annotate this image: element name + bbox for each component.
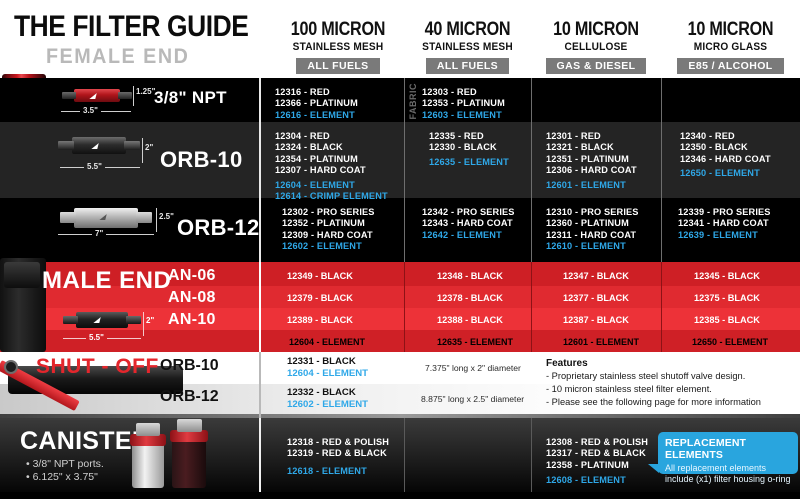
male-cell-1-3: 12375 - BLACK [694,293,760,303]
orb12-dia-dim-line [156,208,157,232]
column-0-media: STAINLESS MESH [277,40,398,54]
female-cell-2-1: 12342 - PRO SERIES 12343 - HARD COAT 126… [422,202,515,262]
product-image-npt: ◢ [60,84,135,108]
male-element-3: 12650 - ELEMENT [692,337,768,347]
canister-bullet-0: • 3/8" NPT ports. [26,458,104,470]
part-line: 12304 - RED [275,131,388,142]
shutoff-dims-1: 8.875" long x 2.5" diameter [421,394,524,404]
male-fitting-hex [4,262,40,288]
male-cell-1-1: 12378 - BLACK [437,293,503,303]
part-line: 12310 - PRO SERIES [546,207,639,218]
shutoff-part-1: 12332 - BLACK [287,387,356,398]
male-element-2: 12601 - ELEMENT [563,337,639,347]
divider-col-1-2-male [531,262,532,352]
canister-image-black [172,436,206,488]
row-label-npt: 3/8" NPT [154,88,227,108]
row-label-an08: AN-08 [168,289,216,307]
orb10-length-dim-label: 5.5" [84,162,105,171]
part-line: 12303 - RED [422,87,505,98]
part-line: 12358 - PLATINUM [546,460,648,471]
column-header-0: 100 MICRON STAINLESS MESH ALL FUELS [272,20,404,74]
part-line: 12311 - HARD COAT [546,230,639,241]
canister-bottom-rule [0,492,800,499]
divider-col-0-1-male [404,262,405,352]
female-cell-2-0: 12302 - PRO SERIES 12352 - PLATINUM 1230… [282,202,375,262]
element-line: 12602 - ELEMENT [282,241,375,252]
part-line: 12341 - HARD COAT [678,218,771,229]
male-cell-0-0: 12349 - BLACK [287,271,353,281]
male-end-band: MALE END ◢ 5.5" 2" AN-06 AN-08 AN-10 123… [0,262,800,352]
part-line: 12319 - RED & BLACK [287,448,389,459]
section-label-shut-off: SHUT - OFF [36,355,159,379]
element-line: 12618 - ELEMENT [287,466,389,477]
part-line: 12340 - RED [680,131,771,142]
section-label-male-end: MALE END [42,267,171,295]
product-image-an: ◢ [62,308,152,336]
aeromotive-logo-icon: ◢ [100,213,105,221]
male-cell-2-2: 12387 - BLACK [563,315,629,325]
part-line: 12317 - RED & BLACK [546,448,648,459]
shutoff-element-0: 12604 - ELEMENT [287,368,368,379]
part-line: 12318 - RED & POLISH [287,437,389,448]
column-header-3: 10 MICRON MICRO GLASS E85 / ALCOHOL [661,20,800,74]
aeromotive-logo-icon: ◢ [92,142,97,150]
orb10-dia-dim-line [142,138,143,163]
product-image-orb12: ◢ [58,204,168,238]
part-line: 12352 - PLATINUM [282,218,375,229]
part-line: 12307 - HARD COAT [275,165,388,176]
column-0-fuel-badge: ALL FUELS [296,58,379,74]
shutoff-element-1: 12602 - ELEMENT [287,399,368,410]
part-line: 12321 - BLACK [546,142,637,153]
callout-title: REPLACEMENT ELEMENTS [665,437,791,461]
male-cell-1-0: 12379 - BLACK [287,293,353,303]
npt-dia-dim-line [133,86,134,106]
section-title-female-end: FEMALE END [46,45,189,69]
element-line: 12601 - ELEMENT [546,180,637,191]
column-1-fuel-badge: ALL FUELS [426,58,509,74]
male-cell-2-3: 12385 - BLACK [694,315,760,325]
shutoff-valve-pivot [4,360,18,374]
npt-length-dim-label: 3.5" [80,106,101,115]
orb12-length-dim-label: 7" [92,229,106,238]
part-line: 12346 - HARD COAT [680,154,771,165]
replacement-elements-callout: REPLACEMENT ELEMENTS All replacement ele… [658,432,798,474]
divider-col-2-3 [661,78,662,262]
female-end-band: FABRIC ◢ 3.5" 1.25" 3/8" NPT 12316 - RED… [0,78,800,262]
part-line: 12366 - PLATINUM [275,98,358,109]
part-line: 12360 - PLATINUM [546,218,639,229]
part-line: 12302 - PRO SERIES [282,207,375,218]
shut-off-band: SHUT - OFF ORB-10 ORB-12 12331 - BLACK 1… [0,352,800,418]
features-item-2: - Please see the following page for more… [546,397,761,407]
divider-left-main-male [259,262,261,352]
column-3-fuel-badge: E85 / ALCOHOL [677,58,783,74]
divider-col-0-1 [404,78,405,262]
an-dia-dim-label: 2" [146,316,154,325]
column-2-media: CELLULOSE [536,40,656,54]
shutoff-dims-0: 7.375" long x 2" diameter [425,363,521,373]
part-line: 12306 - HARD COAT [546,165,637,176]
an-dia-dim-line [143,312,144,336]
element-line: 12650 - ELEMENT [680,168,771,179]
part-line: 12339 - PRO SERIES [678,207,771,218]
part-line: 12308 - RED & POLISH [546,437,648,448]
divider-col-1-2-canister [531,418,532,492]
part-line: 12342 - PRO SERIES [422,207,515,218]
part-line: 12353 - PLATINUM [422,98,505,109]
part-line: 12316 - RED [275,87,358,98]
canister-black-bracket [177,419,202,432]
divider-col-1-2 [531,78,532,262]
row-label-an06: AN-06 [168,267,216,285]
part-line: 12335 - RED [429,131,509,142]
column-header-2: 10 MICRON CELLULOSE GAS & DIESEL [531,20,661,74]
filter-guide-page: THE FILTER GUIDE FEMALE END 100 MICRON S… [0,0,800,499]
part-line: 12354 - PLATINUM [275,154,388,165]
divider-left-main-shutoff [259,352,261,418]
divider-col-0-1-canister [404,418,405,492]
part-line: 12330 - BLACK [429,142,509,153]
row-label-shutoff-orb10: ORB-10 [160,357,219,375]
canister-image-polish [132,440,164,488]
column-1-media: STAINLESS MESH [409,40,526,54]
element-line: 12616 - ELEMENT [275,110,358,121]
male-cell-2-1: 12388 - BLACK [437,315,503,325]
orb10-dia-dim-label: 2" [145,143,153,152]
column-3-micron: 10 MICRON [671,20,789,40]
part-line: 12324 - BLACK [275,142,388,153]
canister-cell-0: 12318 - RED & POLISH 12319 - RED & BLACK… [287,432,389,499]
row-label-an10: AN-10 [168,311,216,329]
callout-line-1: All replacement elements [665,463,791,474]
aeromotive-logo-icon: ◢ [90,92,95,100]
column-3-media: MICRO GLASS [667,40,795,54]
male-element-0: 12604 - ELEMENT [289,337,365,347]
element-line: 12608 - ELEMENT [546,475,648,486]
male-cell-2-0: 12389 - BLACK [287,315,353,325]
row-label-orb12: ORB-12 [177,215,260,241]
orb12-dia-dim-label: 2.5" [159,212,174,221]
element-line: 12635 - ELEMENT [429,157,509,168]
female-cell-2-2: 12310 - PRO SERIES 12360 - PLATINUM 1231… [546,202,639,262]
part-line: 12309 - HARD COAT [282,230,375,241]
element-line: 12604 - ELEMENT [275,180,388,191]
features-title: Features [546,358,588,369]
fabric-vertical-label: FABRIC [408,83,418,120]
part-line: 12301 - RED [546,131,637,142]
row-label-shutoff-orb12: ORB-12 [160,388,219,406]
element-line: 12610 - ELEMENT [546,241,639,252]
npt-dia-dim-label: 1.25" [136,87,155,96]
shutoff-part-0: 12331 - BLACK [287,356,356,367]
element-line: 12614 - CRIMP ELEMENT [275,191,388,202]
features-item-1: - 10 micron stainless steel filter eleme… [546,384,712,394]
column-2-micron: 10 MICRON [541,20,652,40]
page-title: THE FILTER GUIDE [14,10,248,44]
element-line: 12639 - ELEMENT [678,230,771,241]
element-line: 12603 - ELEMENT [422,110,505,121]
features-item-0: - Proprietary stainless steel shutoff va… [546,371,745,381]
product-image-orb10: ◢ [58,132,148,164]
male-cell-0-2: 12347 - BLACK [563,271,629,281]
male-cell-1-2: 12377 - BLACK [563,293,629,303]
male-cell-0-3: 12345 - BLACK [694,271,760,281]
part-line: 12350 - BLACK [680,142,771,153]
male-cell-0-1: 12348 - BLACK [437,271,503,281]
aeromotive-logo-icon: ◢ [94,316,99,324]
canister-cell-2: 12308 - RED & POLISH 12317 - RED & BLACK… [546,432,648,499]
canister-polish-bracket [136,423,160,436]
column-0-micron: 100 MICRON [282,20,394,40]
column-header-1: 40 MICRON STAINLESS MESH ALL FUELS [404,20,531,74]
part-line: 12343 - HARD COAT [422,218,515,229]
row-label-orb10: ORB-10 [160,147,243,173]
divider-col-2-3-male [661,262,662,352]
column-1-micron: 40 MICRON [414,20,522,40]
canister-band: CANISTER • 3/8" NPT ports. • 6.125" x 3.… [0,418,800,499]
an-length-dim-label: 5.5" [86,333,107,342]
element-line: 12642 - ELEMENT [422,230,515,241]
male-element-1: 12635 - ELEMENT [437,337,513,347]
callout-line-2: include (x1) filter housing o-ring [665,474,791,485]
column-2-fuel-badge: GAS & DIESEL [546,58,647,74]
part-line: 12351 - PLATINUM [546,154,637,165]
canister-bullet-1: • 6.125" x 3.75" [26,471,98,483]
female-cell-2-3: 12339 - PRO SERIES 12341 - HARD COAT 126… [678,202,771,262]
divider-left-main-canister [259,418,261,492]
